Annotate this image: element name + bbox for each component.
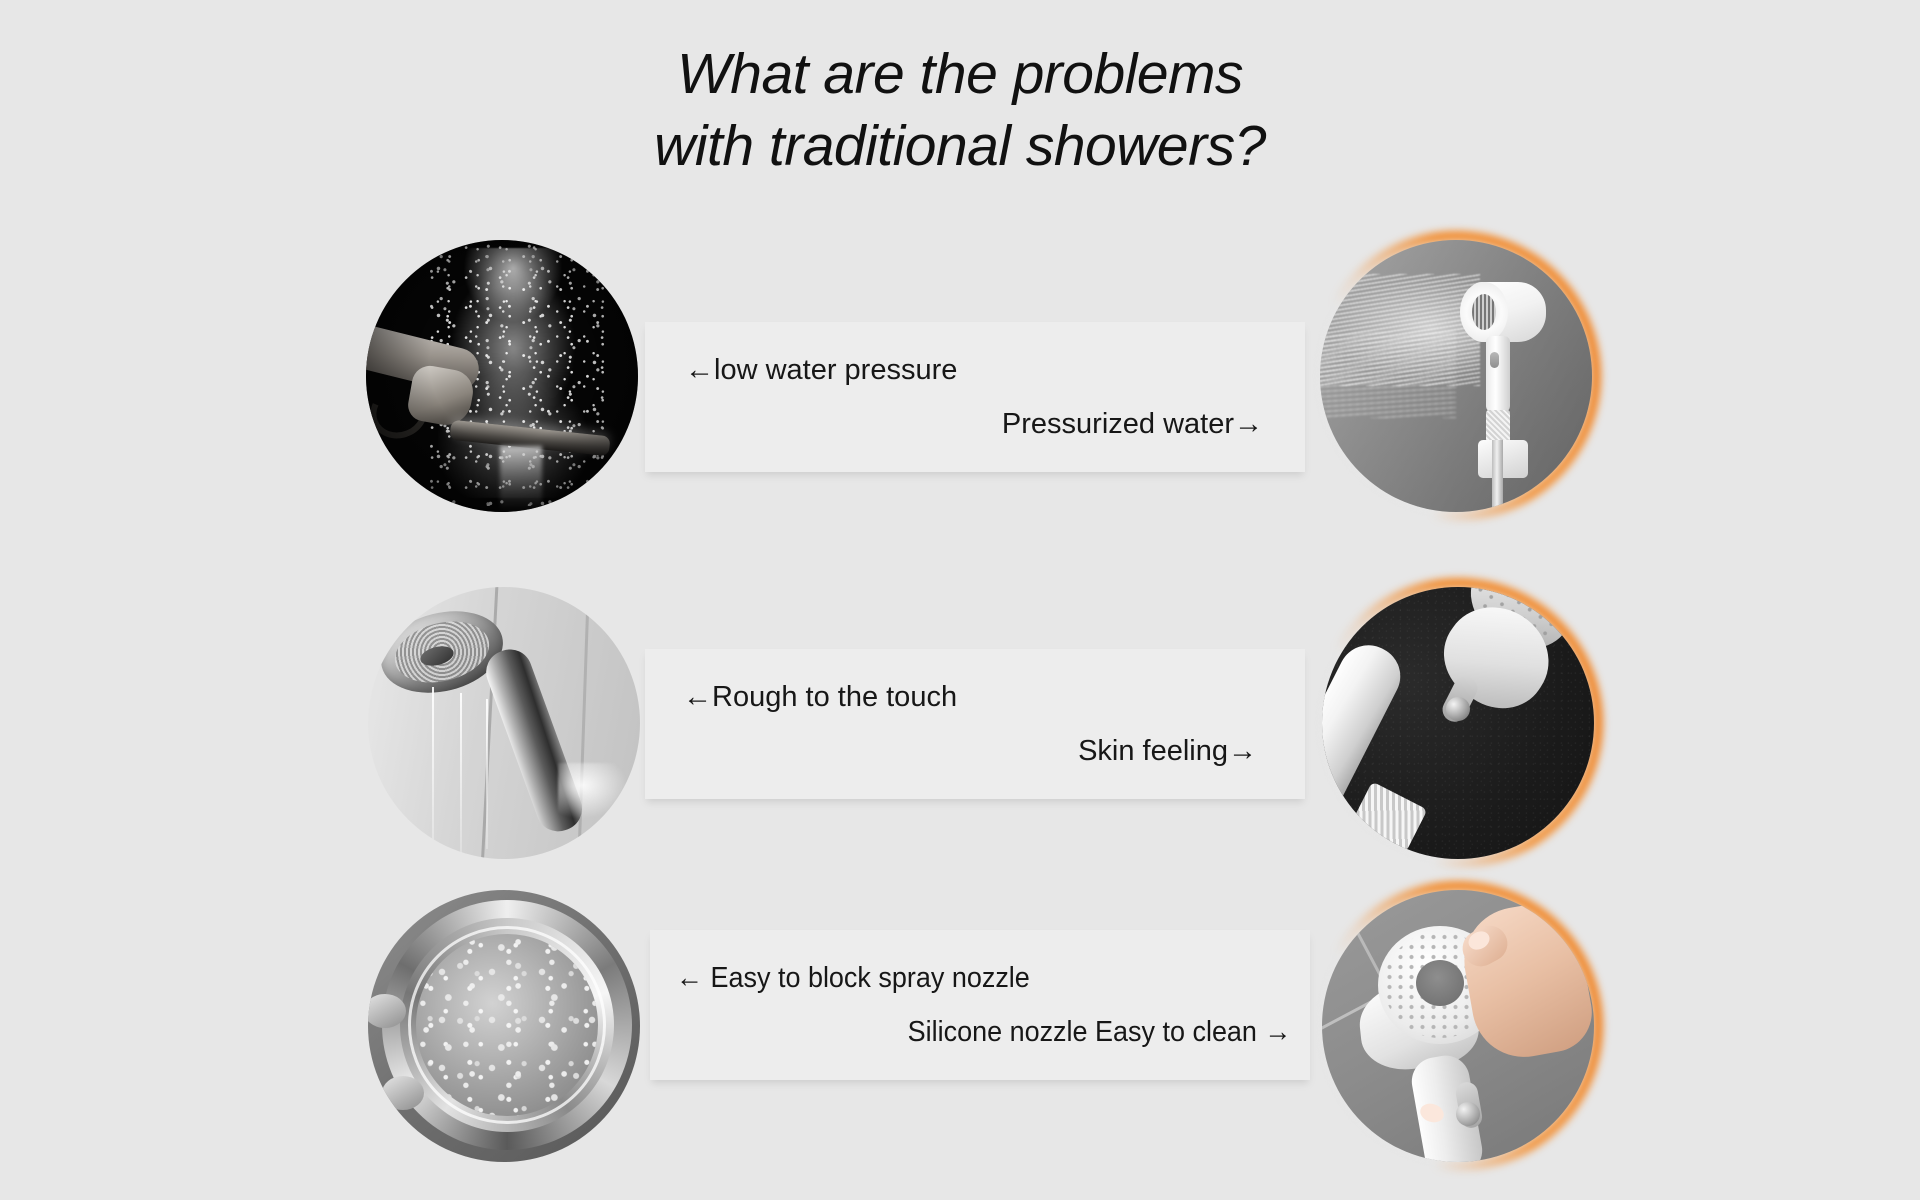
caption-solution: Pressurized water→ (645, 397, 1305, 451)
problem-photo-weak-spray (366, 240, 638, 512)
caption-problem: ← Easy to block spray nozzle (650, 951, 1264, 1005)
caption-problem: ←Rough to the touch (645, 670, 1305, 724)
caption-solution: Skin feeling→ (645, 724, 1305, 778)
solution-photo-smooth-shower-head (1322, 587, 1594, 859)
caption-problem: ←low water pressure (645, 343, 1305, 397)
solution-photo-wrap-pressurized (1320, 240, 1592, 512)
page-title-line-1: What are the problems (0, 38, 1920, 110)
comparison-row-low-water-pressure: ←low water pressure Pressurized water→ (0, 240, 1920, 540)
comparison-row-skin-feeling: ←Rough to the touch Skin feeling→ (0, 567, 1920, 867)
page-title-line-2: with traditional showers? (0, 110, 1920, 182)
solution-photo-silicone-nozzle-cleaning (1322, 890, 1594, 1162)
page-title: What are the problems with traditional s… (0, 38, 1920, 182)
problem-photo-clogged-nozzle (368, 890, 640, 1162)
solution-photo-wrap-easy-clean (1322, 890, 1594, 1162)
caption-group: ←Rough to the touch Skin feeling→ (645, 649, 1305, 799)
caption-group: ← Easy to block spray nozzle Silicone no… (650, 930, 1310, 1080)
solution-photo-pressurized-water (1320, 240, 1592, 512)
caption-solution: Silicone nozzle Easy to clean → (696, 1005, 1310, 1059)
problem-photo-rough-chrome-head (368, 587, 640, 859)
solution-photo-wrap-skin-feeling (1322, 587, 1594, 859)
caption-group: ←low water pressure Pressurized water→ (645, 322, 1305, 472)
comparison-row-easy-to-clean: ← Easy to block spray nozzle Silicone no… (0, 872, 1920, 1172)
